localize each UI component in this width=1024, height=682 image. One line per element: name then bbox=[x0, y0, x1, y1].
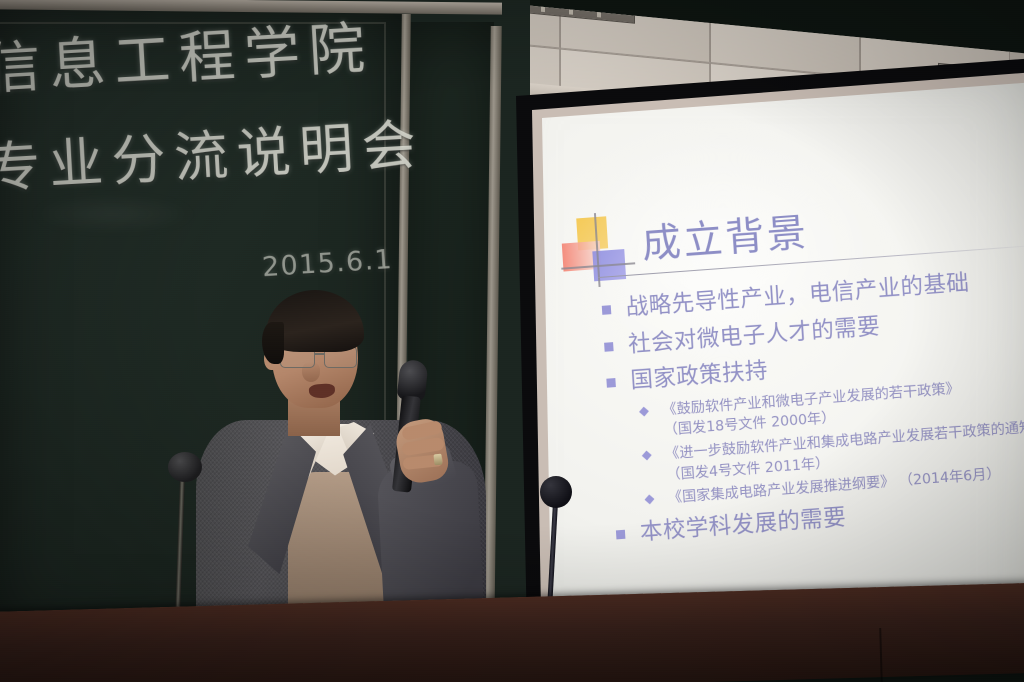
speaker-hair-side bbox=[262, 322, 284, 364]
microphone-head bbox=[168, 452, 202, 482]
microphone-head bbox=[397, 359, 429, 402]
chalk-smudge bbox=[28, 196, 198, 232]
slide-bullet-list: 战略先导性产业，电信产业的基础 社会对微电子人才的需要 国家政策扶持 《鼓励软件… bbox=[599, 261, 1024, 556]
lecture-hall-photo: 信息工程学院 专业分流说明会 2015.6.1 成立背景 战略先导性产业，电信产… bbox=[0, 0, 1024, 682]
sub-bullet-note: （2014年6月） bbox=[898, 466, 1001, 489]
speaker-ring bbox=[433, 454, 442, 466]
slide-content: 成立背景 战略先导性产业，电信产业的基础 社会对微电子人才的需要 国家政策扶持 … bbox=[552, 83, 1024, 639]
projection-screen: 成立背景 战略先导性产业，电信产业的基础 社会对微电子人才的需要 国家政策扶持 … bbox=[498, 58, 1024, 658]
slide-title: 成立背景 bbox=[640, 202, 810, 270]
microphone-head bbox=[540, 476, 572, 508]
